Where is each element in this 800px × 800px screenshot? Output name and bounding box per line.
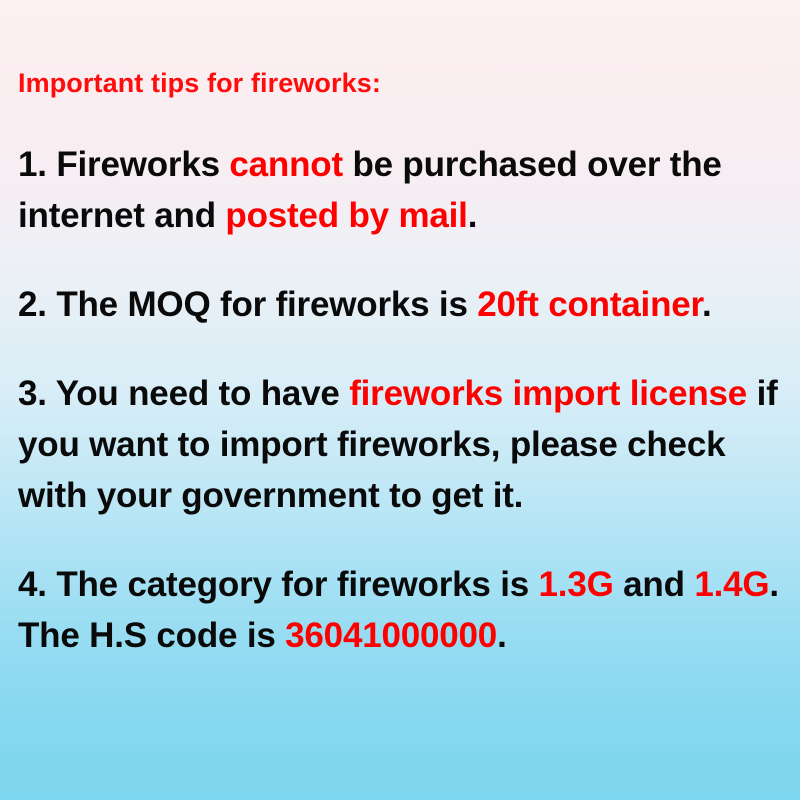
poster-content: Important tips for fireworks: 1. Firewor… — [18, 66, 790, 661]
highlighted-text: 36041000000 — [285, 616, 497, 655]
tip-number: 2. — [18, 285, 47, 324]
tip-text: The category for fireworks is — [47, 565, 539, 604]
highlighted-text: 1.3G — [539, 565, 614, 604]
tip-text: . — [497, 616, 507, 655]
tip-number: 1. — [18, 145, 47, 184]
highlighted-text: fireworks import license — [349, 374, 747, 413]
page-title: Important tips for fireworks: — [18, 66, 790, 100]
tip-number: 4. — [18, 565, 47, 604]
tip-text: and — [614, 565, 695, 604]
tip-number: 3. — [18, 374, 47, 413]
tip-text: . — [702, 285, 712, 324]
tip-text: . — [468, 196, 478, 235]
highlighted-text: 20ft container — [477, 285, 702, 324]
tip-item-4: 4. The category for fireworks is 1.3G an… — [18, 559, 790, 661]
highlighted-text: 1.4G — [694, 565, 769, 604]
tip-text: The MOQ for fireworks is — [47, 285, 477, 324]
fireworks-tips-poster: Important tips for fireworks: 1. Firewor… — [0, 0, 800, 800]
tip-text: You need to have — [47, 374, 349, 413]
highlighted-text: posted by mail — [225, 196, 467, 235]
tip-item-2: 2. The MOQ for fireworks is 20ft contain… — [18, 279, 790, 330]
tip-item-1: 1. Fireworks cannot be purchased over th… — [18, 139, 790, 241]
highlighted-text: cannot — [229, 145, 343, 184]
tip-item-3: 3. You need to have fireworks import lic… — [18, 368, 790, 521]
tip-text: Fireworks — [47, 145, 230, 184]
